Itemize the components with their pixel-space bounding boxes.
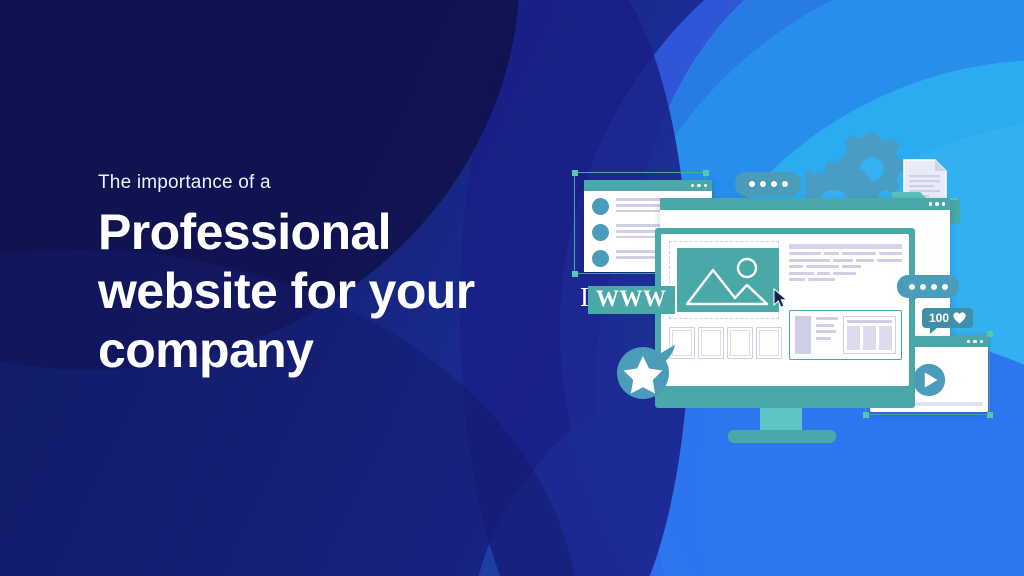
thumbnail-row (669, 327, 782, 359)
window-titlebar (584, 180, 712, 191)
monitor-base (728, 430, 836, 443)
monitor-neck (760, 408, 802, 432)
like-count: 100 (929, 311, 949, 325)
avatar (592, 250, 609, 267)
thumbnail-card[interactable] (698, 327, 724, 359)
heart-icon (953, 312, 966, 324)
star-badge-icon (617, 345, 679, 401)
speech-bubble-icon (897, 275, 959, 298)
thumbnail-card[interactable] (756, 327, 782, 359)
thumbnail-card[interactable] (727, 327, 753, 359)
play-button-icon[interactable] (912, 363, 946, 397)
url-chip[interactable]: WWW (588, 286, 675, 314)
hero-illustration: I WWW (560, 120, 1024, 460)
headline-block: The importance of a Professional website… (98, 172, 528, 380)
image-placeholder-icon[interactable] (677, 248, 779, 312)
headline-line-2: website for your (98, 262, 528, 321)
speech-bubble-icon (735, 172, 801, 196)
avatar (592, 198, 609, 215)
headline-line-3: company (98, 321, 528, 380)
data-card[interactable] (789, 310, 902, 360)
page-title: Professional website for your company (98, 203, 528, 380)
avatar (592, 224, 609, 241)
like-badge[interactable]: 100 (922, 308, 973, 328)
monitor-frame (655, 228, 915, 408)
text-caret-icon: I (580, 284, 589, 311)
eyebrow-text: The importance of a (98, 172, 528, 195)
window-titlebar (660, 198, 950, 210)
headline-line-1: Professional (98, 203, 528, 262)
slide-canvas: The importance of a Professional website… (0, 0, 1024, 576)
monitor-screen[interactable] (661, 234, 909, 386)
mouse-pointer-icon (773, 288, 789, 308)
